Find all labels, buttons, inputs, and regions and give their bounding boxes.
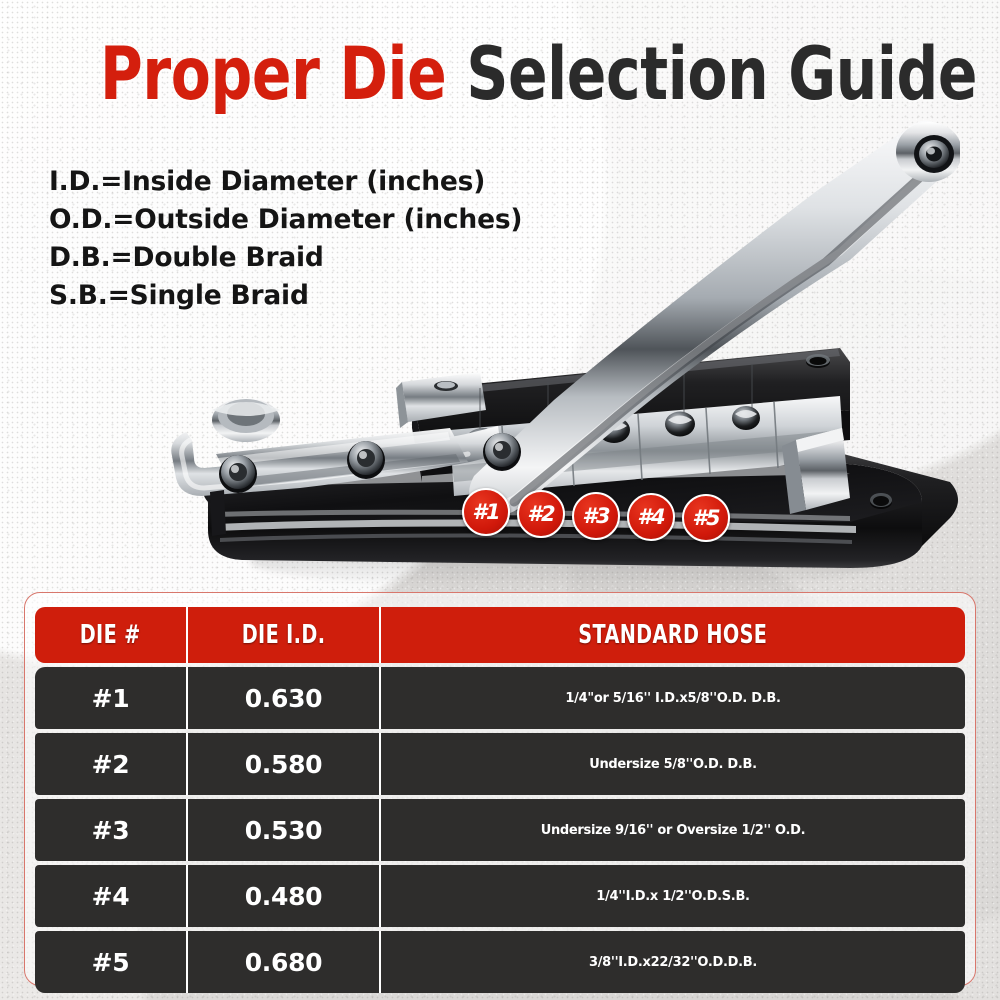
- hose-crimping-tool-image: #1 #2 #3 #4 #5: [150, 110, 960, 590]
- infographic-page: Proper Die Selection Guide I.D.=Inside D…: [0, 0, 1000, 1000]
- table-row: #5 0.680 3/8''I.D.x22/32''O.D.D.B.: [35, 931, 965, 993]
- cell-die-number: #4: [35, 865, 188, 927]
- column-header-die-number: DIE #: [35, 607, 188, 663]
- cell-die-id: 0.580: [188, 733, 381, 795]
- table-row: #2 0.580 Undersize 5/8''O.D. D.B.: [35, 733, 965, 795]
- table-row: #3 0.530 Undersize 9/16'' or Oversize 1/…: [35, 799, 965, 861]
- die-badge-5[interactable]: #5: [682, 494, 730, 542]
- cell-die-id: 0.680: [188, 931, 381, 993]
- cell-die-number: #3: [35, 799, 188, 861]
- cell-standard-hose: 1/4"or 5/16'' I.D.x5/8''O.D. D.B.: [381, 667, 965, 729]
- cell-die-id: 0.630: [188, 667, 381, 729]
- title-part-red: Proper Die: [100, 32, 446, 117]
- die-badge-4[interactable]: #4: [627, 493, 675, 541]
- cell-standard-hose: 3/8''I.D.x22/32''O.D.D.B.: [381, 931, 965, 993]
- table-row: #4 0.480 1/4''I.D.x 1/2''O.D.S.B.: [35, 865, 965, 927]
- page-title: Proper Die Selection Guide: [100, 38, 900, 111]
- cell-die-id: 0.530: [188, 799, 381, 861]
- table-body: #1 0.630 1/4"or 5/16'' I.D.x5/8''O.D. D.…: [35, 667, 965, 993]
- die-badge-1[interactable]: #1: [462, 488, 510, 536]
- die-badge-2[interactable]: #2: [517, 490, 565, 538]
- cell-standard-hose: 1/4''I.D.x 1/2''O.D.S.B.: [381, 865, 965, 927]
- table-header: DIE # DIE I.D. STANDARD HOSE: [35, 607, 965, 663]
- title-part-dark: Selection Guide: [466, 32, 977, 117]
- die-selection-table: DIE # DIE I.D. STANDARD HOSE #1 0.630 1/…: [35, 603, 965, 997]
- column-header-standard-hose: STANDARD HOSE: [381, 607, 965, 663]
- cell-standard-hose: Undersize 9/16'' or Oversize 1/2'' O.D.: [381, 799, 965, 861]
- cell-die-number: #2: [35, 733, 188, 795]
- cell-die-number: #1: [35, 667, 188, 729]
- cell-standard-hose: Undersize 5/8''O.D. D.B.: [381, 733, 965, 795]
- table-row: #1 0.630 1/4"or 5/16'' I.D.x5/8''O.D. D.…: [35, 667, 965, 729]
- cell-die-number: #5: [35, 931, 188, 993]
- cell-die-id: 0.480: [188, 865, 381, 927]
- table-header-row: DIE # DIE I.D. STANDARD HOSE: [35, 607, 965, 663]
- die-selection-table-frame: DIE # DIE I.D. STANDARD HOSE #1 0.630 1/…: [24, 592, 976, 986]
- column-header-die-id: DIE I.D.: [188, 607, 381, 663]
- die-badge-3[interactable]: #3: [572, 492, 620, 540]
